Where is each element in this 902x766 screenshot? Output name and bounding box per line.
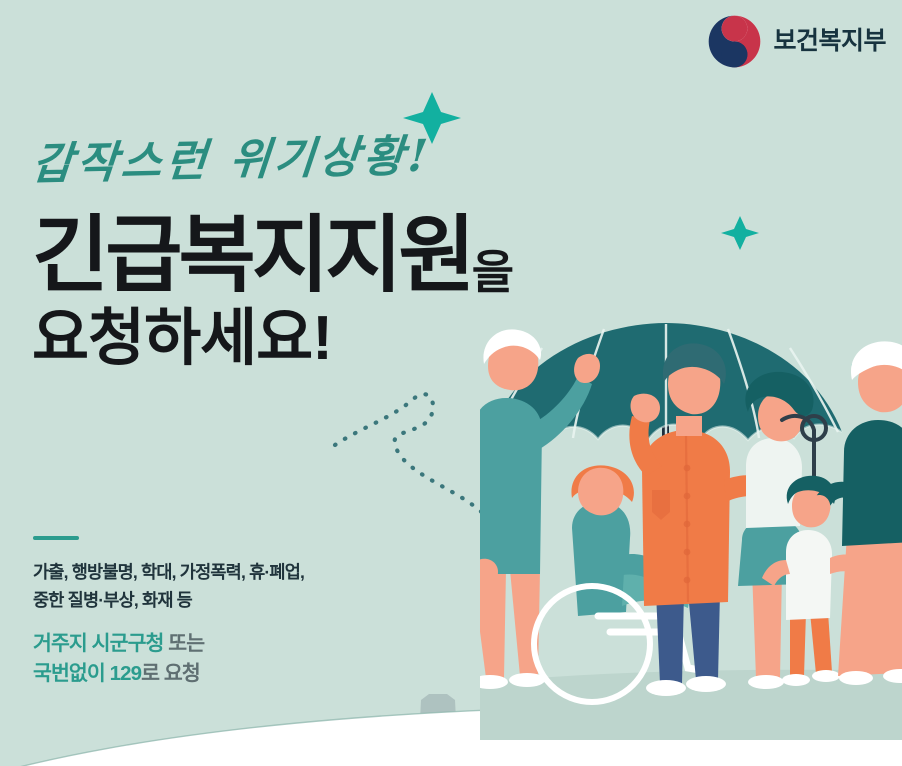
contact-line-1: 거주지 시군구청 또는 bbox=[33, 629, 433, 659]
shoe-right bbox=[812, 670, 840, 682]
contact-office-highlight: 거주지 시군구청 bbox=[33, 632, 164, 655]
leg-left-navy bbox=[656, 592, 684, 684]
shoe-right bbox=[686, 676, 726, 692]
body-line: 중한 질병·부상, 화재 등 bbox=[33, 586, 433, 614]
contact-line-1-rest: 또는 bbox=[164, 632, 205, 655]
shoe-left bbox=[782, 674, 810, 686]
monument-shape bbox=[418, 694, 458, 760]
contact-block: 거주지 시군구청 또는 국번없이 129로 요청 bbox=[33, 629, 433, 690]
shoe-left bbox=[839, 671, 873, 685]
sparkle-icon bbox=[721, 216, 759, 250]
kicker-text: 갑작스런 위기상황! bbox=[30, 127, 635, 190]
poster-canvas: 보건복지부 갑작스런 위기상황! 긴급복지지원을 요청하세요! 가출, 행방불명… bbox=[0, 0, 902, 766]
divider-rule bbox=[33, 536, 79, 540]
title-suffix: 을 bbox=[472, 246, 512, 298]
title-main: 긴급복지지원 bbox=[32, 208, 472, 302]
ministry-logo: 보건복지부 bbox=[707, 14, 886, 69]
legs bbox=[752, 570, 782, 678]
shoe-left bbox=[646, 680, 686, 696]
top-dark-teal bbox=[842, 420, 902, 546]
body-white bbox=[786, 530, 832, 620]
leg-left bbox=[480, 570, 506, 678]
umbrella-family-illustration bbox=[480, 320, 902, 750]
shoe bbox=[748, 675, 784, 689]
contact-line-2-rest: 로 요청 bbox=[141, 662, 200, 685]
taegeuk-icon bbox=[707, 14, 762, 69]
leg-second bbox=[810, 612, 832, 674]
title-line-1: 긴급복지지원을 bbox=[32, 213, 632, 299]
body-line: 가출, 행방불명, 학대, 가정폭력, 휴·폐업, bbox=[33, 558, 433, 586]
neck bbox=[676, 416, 702, 436]
hand-left bbox=[809, 495, 831, 519]
info-block: 가출, 행방불명, 학대, 가정폭력, 휴·폐업, 중한 질병·부상, 화재 등… bbox=[33, 536, 433, 689]
head bbox=[578, 468, 623, 516]
skirt-peach bbox=[838, 526, 902, 676]
contact-phone-highlight: 국번없이 129 bbox=[33, 662, 141, 685]
legs-orange bbox=[790, 612, 806, 676]
ministry-name: 보건복지부 bbox=[773, 29, 886, 54]
contact-line-2: 국번없이 129로 요청 bbox=[33, 659, 433, 689]
